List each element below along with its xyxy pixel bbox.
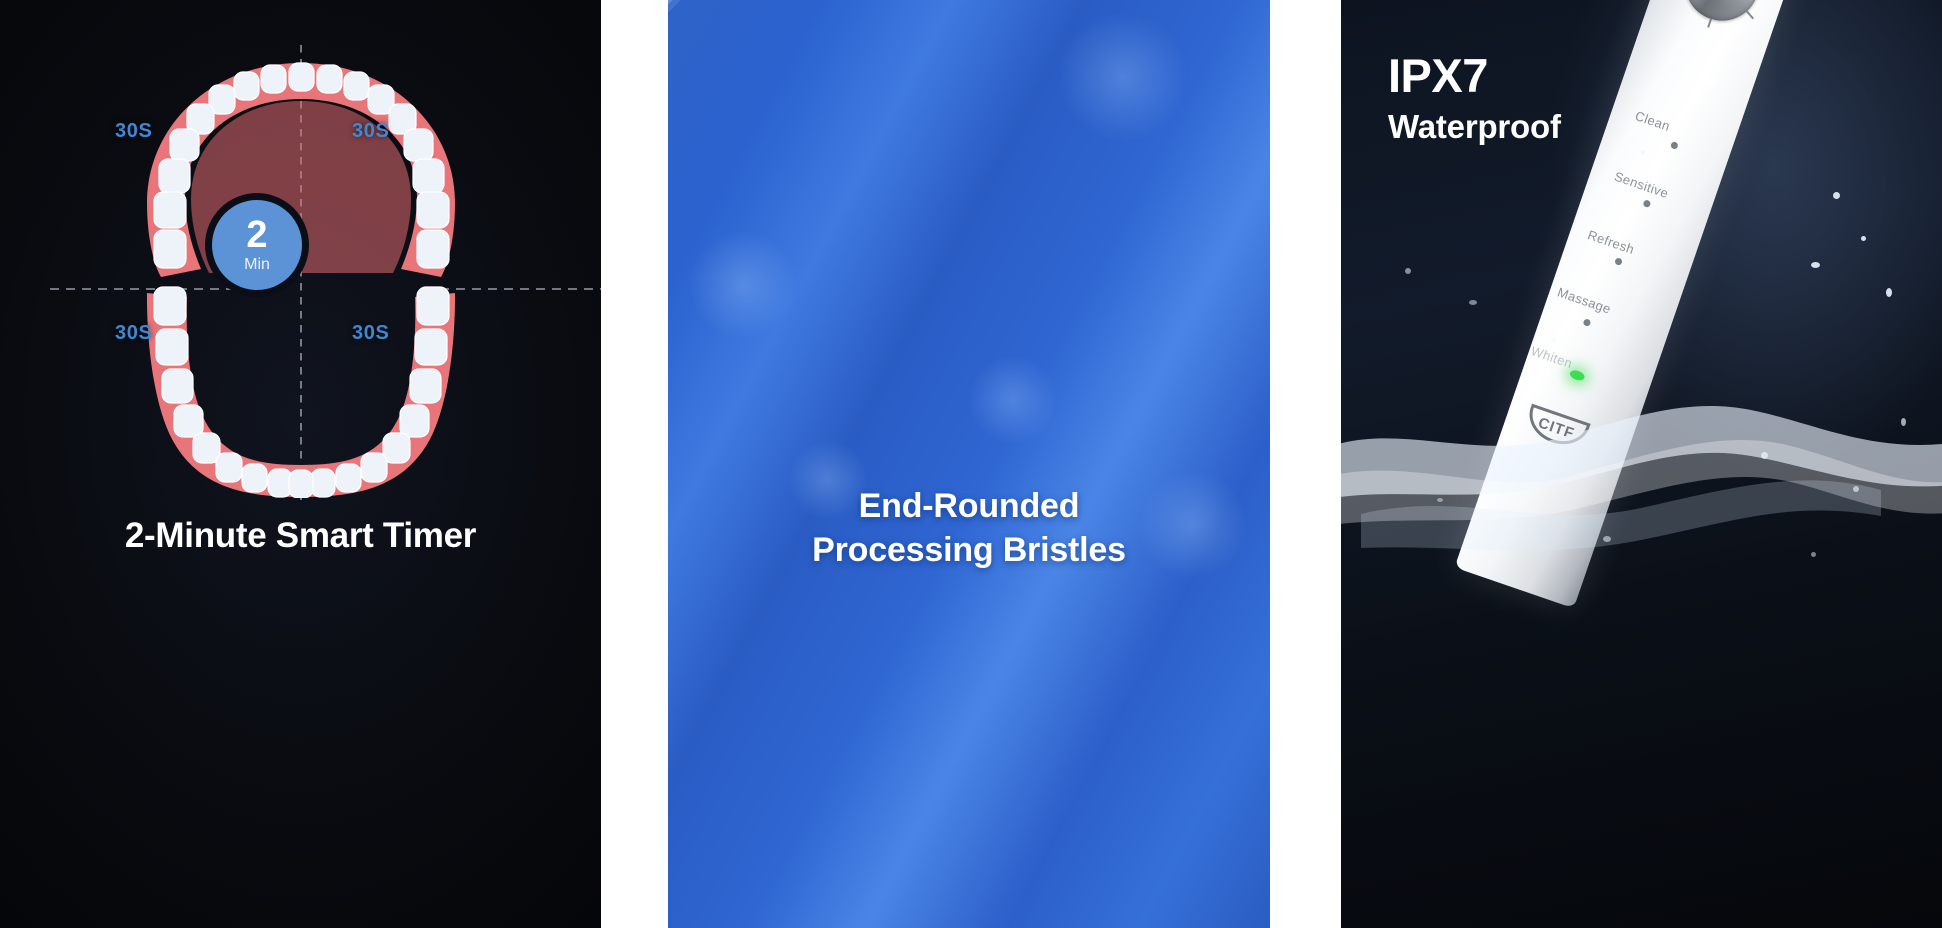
feature-column-waterproof: IPX7 Waterproof Clean bbox=[1341, 0, 1942, 928]
quadrant-label-bottom-right: 30S bbox=[352, 322, 389, 345]
droplet-1 bbox=[1833, 192, 1840, 199]
quadrant-label-top-right: 30S bbox=[352, 120, 389, 143]
feature-columns-page: 30S 30S 30S 30S 2 Min 2-Minute Smart Tim… bbox=[0, 0, 1942, 928]
brand-logo-mark: CITF bbox=[1522, 404, 1590, 453]
droplet-4 bbox=[1886, 288, 1892, 297]
droplet-9 bbox=[1761, 452, 1768, 459]
teeth-timer-diagram: 30S 30S 30S 30S 2 Min 2-Minute Smart Tim… bbox=[0, 0, 601, 928]
mode-label-sensitive: Sensitive bbox=[1612, 169, 1670, 202]
mode-label-clean: Clean bbox=[1633, 108, 1672, 134]
mode-label-whiten: Whiten bbox=[1529, 343, 1574, 371]
mode-label-refresh: Refresh bbox=[1586, 227, 1637, 257]
image-overlay-title-timer: 2-Minute Smart Timer bbox=[0, 516, 601, 556]
brush-head-cap bbox=[1675, 0, 1769, 31]
droplet-14 bbox=[1811, 552, 1816, 557]
bristles-closeup-image: End-Rounded Processing Bristles bbox=[668, 0, 1270, 928]
overlay-title-line-1: IPX7 bbox=[1388, 52, 1561, 101]
mode-dot-clean bbox=[1670, 141, 1679, 150]
bristle-highlight-2 bbox=[1058, 12, 1188, 142]
mode-label-massage: Massage bbox=[1556, 284, 1613, 316]
feature-column-brush-heads: End-Rounded Processing Bristles 6 electr… bbox=[668, 0, 1270, 928]
two-minute-badge: 2 Min bbox=[212, 200, 302, 290]
cap-tick-4 bbox=[1707, 18, 1712, 28]
feature-column-smart-timer: 30S 30S 30S 30S 2 Min 2-Minute Smart Tim… bbox=[0, 0, 601, 928]
cap-tick-3 bbox=[1746, 11, 1754, 20]
badge-value: 2 bbox=[246, 216, 267, 254]
droplet-6 bbox=[1405, 268, 1411, 274]
overlay-title-line-1: End-Rounded bbox=[668, 485, 1270, 529]
timer-diagram-stage: 30S 30S 30S 30S 2 Min 2-Minute Smart Tim… bbox=[0, 0, 601, 928]
bristle-highlight-1 bbox=[688, 230, 798, 340]
quadrant-label-bottom-left: 30S bbox=[115, 322, 152, 345]
badge-unit: Min bbox=[244, 257, 270, 273]
lower-dental-arch bbox=[121, 283, 481, 498]
droplet-7 bbox=[1469, 300, 1477, 305]
droplet-10 bbox=[1853, 486, 1859, 492]
mode-dot-refresh bbox=[1614, 257, 1623, 266]
droplet-11 bbox=[1901, 418, 1906, 426]
droplet-2 bbox=[1861, 236, 1866, 241]
quadrant-label-top-left: 30S bbox=[115, 120, 152, 143]
power-indicator-led bbox=[1704, 76, 1715, 87]
image-overlay-title-bristles: End-Rounded Processing Bristles bbox=[668, 485, 1270, 572]
droplet-13 bbox=[1603, 536, 1611, 542]
overlay-title-line-2: Processing Bristles bbox=[668, 529, 1270, 573]
mode-dot-sensitive bbox=[1642, 199, 1651, 208]
droplet-3 bbox=[1811, 262, 1820, 268]
mode-dot-massage bbox=[1582, 318, 1591, 327]
waterproof-toothbrush-image: IPX7 Waterproof Clean bbox=[1341, 0, 1942, 928]
image-overlay-title-ipx7: IPX7 Waterproof bbox=[1388, 52, 1561, 146]
bristle-highlight-3 bbox=[968, 355, 1058, 445]
droplet-12 bbox=[1437, 498, 1443, 502]
overlay-title-line-2: Waterproof bbox=[1388, 107, 1561, 147]
